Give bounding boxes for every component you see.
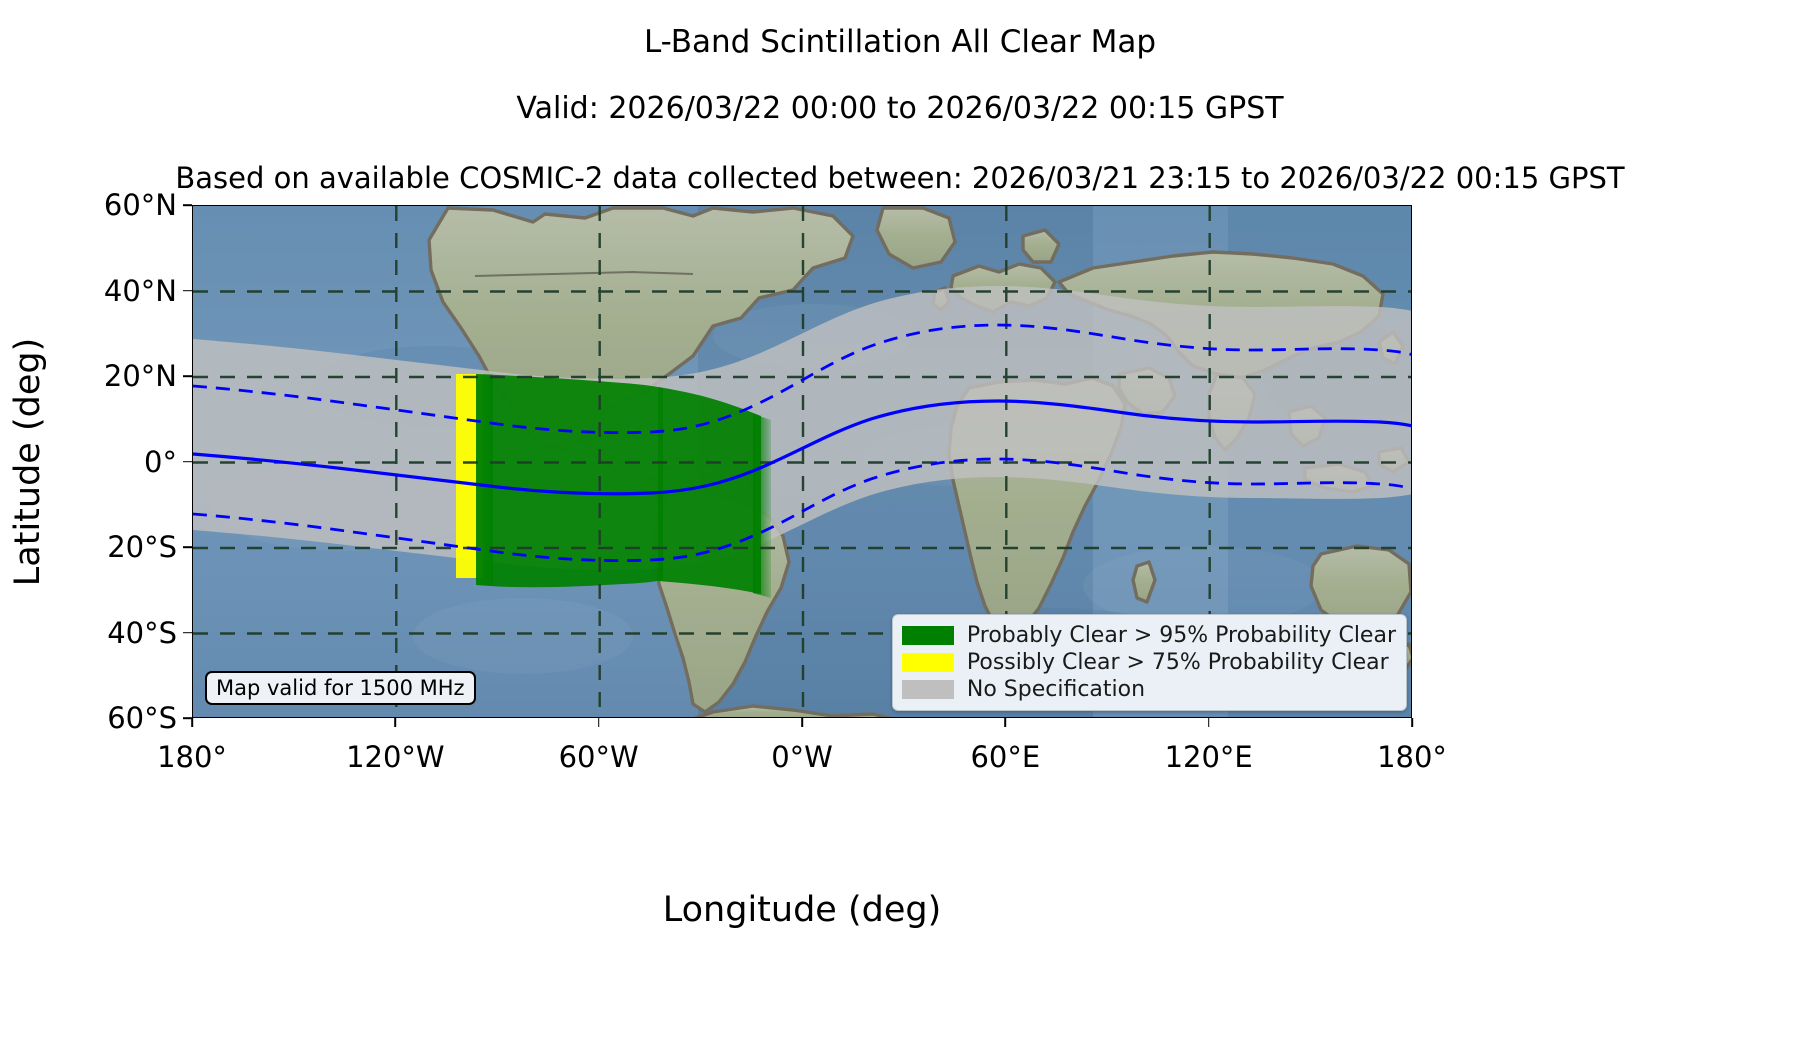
x-tick-label: 60°E (905, 740, 1105, 774)
x-tick-label: 120°W (295, 740, 495, 774)
legend-swatch-no-specification (902, 680, 954, 699)
map-plot-area: Probably Clear > 95% Probability Clear P… (192, 205, 1412, 718)
page-title: L-Band Scintillation All Clear Map (0, 24, 1800, 60)
x-tick-label: 180° (92, 740, 292, 774)
legend-label-possibly-clear: Possibly Clear > 75% Probability Clear (967, 650, 1389, 675)
frequency-annotation: Map valid for 1500 MHz (205, 671, 476, 705)
x-tick-mark (395, 718, 397, 727)
x-tick-mark (1411, 718, 1413, 727)
x-tick-label: 180° (1312, 740, 1512, 774)
legend-swatch-probably-clear (902, 626, 954, 645)
x-tick-mark (1208, 718, 1210, 727)
legend-item-possibly-clear: Possibly Clear > 75% Probability Clear (902, 649, 1396, 676)
y-tick-label: 20°S (17, 530, 177, 564)
figure: L-Band Scintillation All Clear Map Valid… (0, 0, 1800, 1050)
y-tick-mark (183, 632, 192, 634)
x-tick-mark (801, 718, 803, 727)
y-tick-label: 40°S (17, 616, 177, 650)
y-tick-label: 20°N (17, 359, 177, 393)
x-tick-mark (191, 718, 193, 727)
y-tick-label: 60°N (17, 188, 177, 222)
probably-clear-region (476, 374, 771, 598)
y-tick-label: 40°N (17, 274, 177, 308)
valid-time-subtitle: Valid: 2026/03/22 00:00 to 2026/03/22 00… (0, 91, 1800, 126)
data-source-subtitle: Based on available COSMIC-2 data collect… (0, 161, 1800, 195)
x-tick-mark (1005, 718, 1007, 727)
legend-item-probably-clear: Probably Clear > 95% Probability Clear (902, 622, 1396, 649)
y-tick-mark (183, 461, 192, 463)
legend-item-no-specification: No Specification (902, 676, 1396, 703)
legend-label-probably-clear: Probably Clear > 95% Probability Clear (967, 623, 1396, 648)
y-tick-label: 0° (17, 445, 177, 479)
legend-swatch-possibly-clear (902, 653, 954, 672)
x-tick-label: 60°W (499, 740, 699, 774)
y-tick-mark (183, 204, 192, 206)
map-legend: Probably Clear > 95% Probability Clear P… (892, 614, 1407, 711)
y-tick-mark (183, 290, 192, 292)
y-tick-mark (183, 375, 192, 377)
y-tick-label: 60°S (17, 701, 177, 735)
legend-label-no-specification: No Specification (967, 677, 1145, 702)
y-tick-mark (183, 546, 192, 548)
x-tick-label: 120°E (1109, 740, 1309, 774)
x-tick-label: 0°W (702, 740, 902, 774)
x-axis-label: Longitude (deg) (192, 890, 1412, 930)
x-tick-mark (598, 718, 600, 727)
